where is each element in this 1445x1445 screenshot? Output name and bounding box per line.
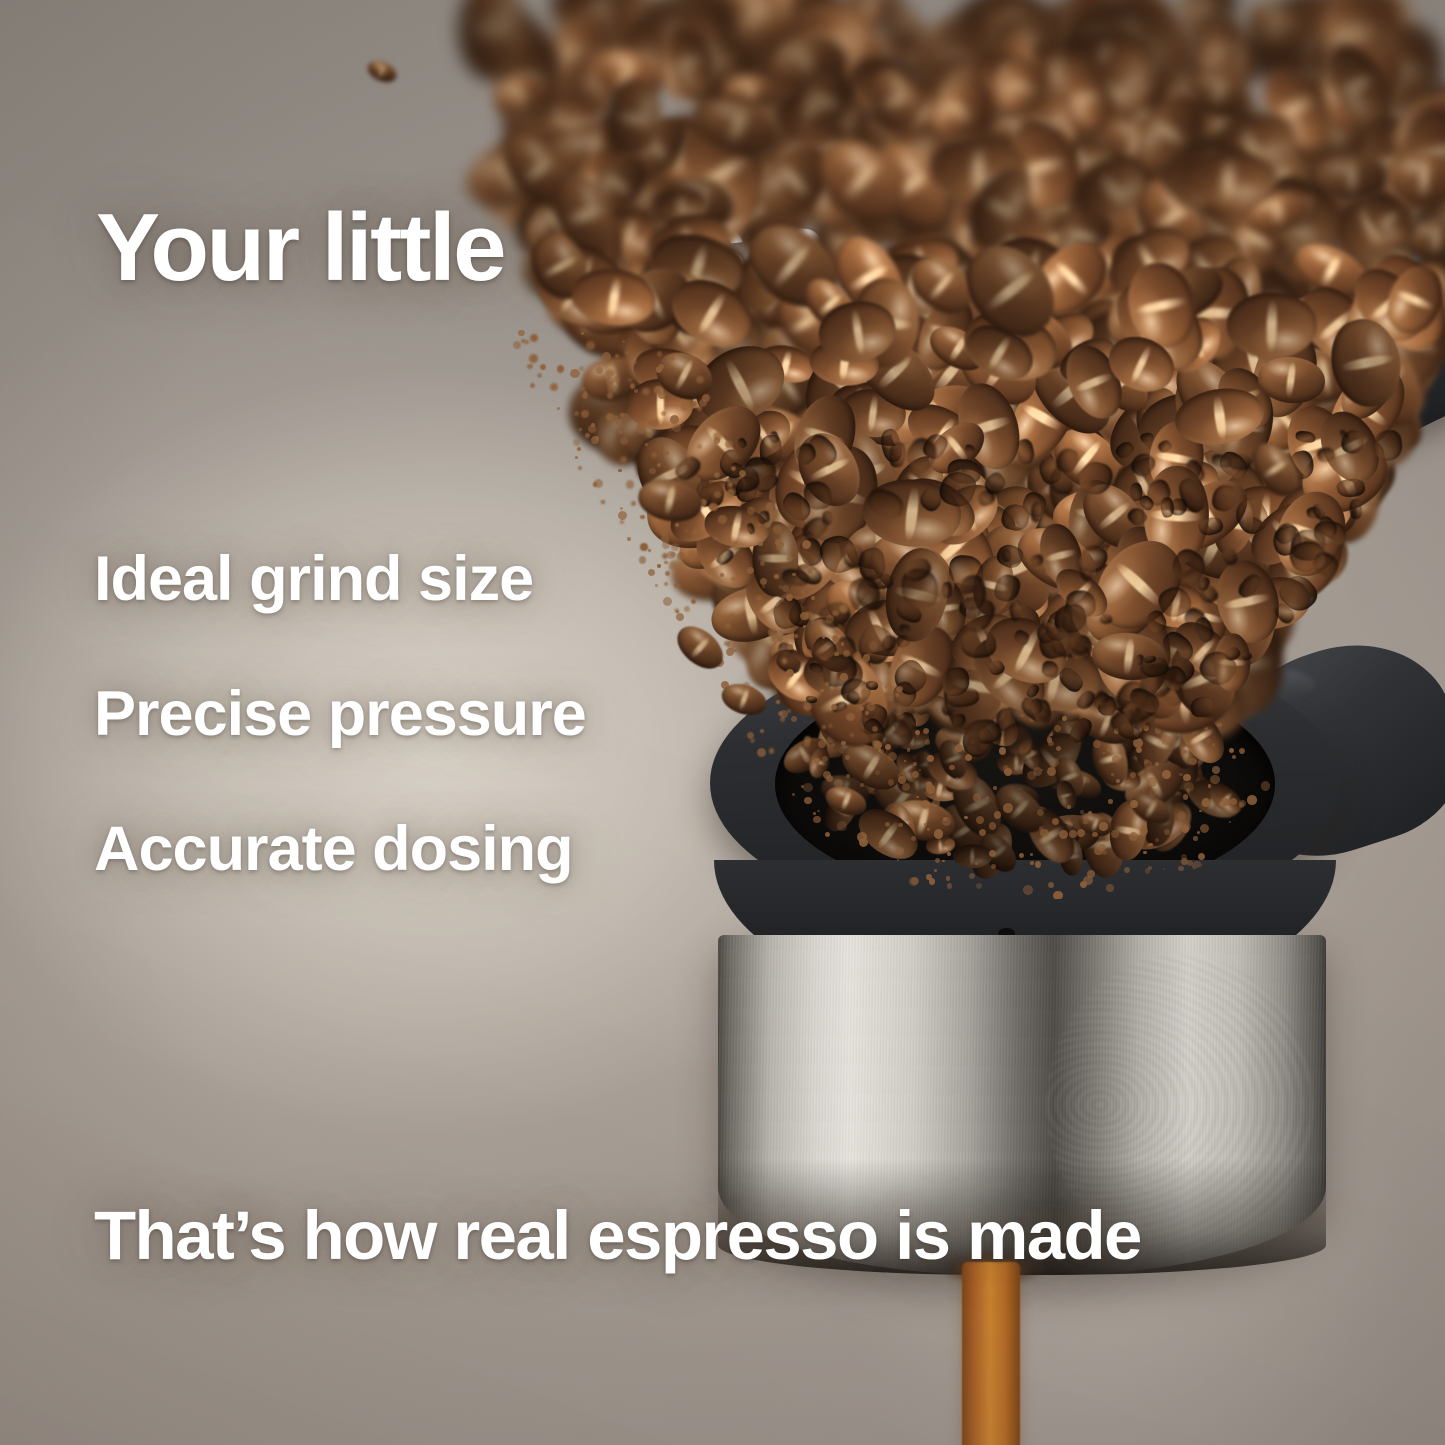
coffee-grain [803, 702, 811, 710]
coffee-grain [926, 874, 931, 879]
coffee-grain [687, 550, 696, 559]
coffee-grain [872, 726, 878, 732]
coffee-grain [993, 786, 997, 790]
coffee-grain [989, 850, 996, 857]
coffee-grain [610, 381, 613, 384]
coffee-grain [1217, 723, 1221, 727]
coffee-grain [530, 383, 535, 388]
coffee-grain [879, 842, 882, 845]
coffee-grain [1192, 861, 1202, 871]
coffee-grain [1124, 867, 1130, 873]
coffee-grain [1181, 854, 1187, 860]
coffee-grain [671, 543, 678, 550]
coffee-grain [729, 613, 735, 619]
coffee-grain [1140, 827, 1148, 835]
coffee-grain [676, 613, 684, 621]
coffee-grain [1020, 714, 1023, 717]
coffee-grain [886, 693, 894, 701]
coffee-grain [1179, 773, 1182, 776]
coffee-grain [591, 423, 595, 427]
coffee-grain [834, 652, 838, 656]
coffee-grain [786, 669, 794, 677]
coffee-grain [1054, 725, 1061, 732]
coffee-grain [675, 523, 679, 527]
coffee-grain [725, 623, 731, 629]
coffee-grain [776, 700, 780, 704]
coffee-grain [801, 785, 804, 788]
coffee-grain [986, 796, 989, 799]
coffee-grain [834, 628, 839, 633]
coffee-grain [911, 877, 919, 885]
coffee-grain [846, 774, 849, 777]
coffee-grain [1030, 861, 1034, 865]
coffee-grain [1083, 816, 1087, 820]
coffee-grain [1197, 831, 1200, 834]
coffee-grain [601, 500, 605, 504]
coffee-grain [1247, 795, 1256, 804]
coffee-grain [657, 351, 663, 357]
coffee-grain [713, 432, 722, 441]
coffee-grain [756, 595, 762, 601]
coffee-grain [1004, 768, 1012, 776]
coffee-grain [813, 812, 816, 815]
coffee-grain [1164, 829, 1170, 835]
coffee-grain [766, 502, 774, 510]
coffee-grain [811, 596, 815, 600]
coffee-grain [527, 364, 533, 370]
coffee-grain [1229, 821, 1231, 823]
coffee-grain [1033, 767, 1042, 776]
coffee-grain [818, 619, 823, 624]
coffee-grain [1178, 866, 1184, 872]
coffee-grain [618, 469, 621, 472]
coffee-grain [1232, 755, 1236, 759]
coffee-grain [1040, 829, 1049, 838]
coffee-grain [791, 716, 797, 722]
feature-list: Ideal grind size Precise pressure Accura… [94, 548, 586, 881]
coffee-grain [947, 883, 953, 889]
coffee-grain [529, 354, 538, 363]
coffee-grain [916, 796, 918, 798]
coffee-grain [620, 437, 628, 445]
coffee-grain [655, 584, 658, 587]
marketing-image: Your little barista Ideal grind size Pre… [0, 0, 1445, 1445]
coffee-grain [658, 391, 666, 399]
coffee-grain [537, 373, 542, 378]
coffee-grain [885, 744, 891, 750]
coffee-grain [769, 748, 774, 753]
coffee-grain [832, 635, 840, 643]
coffee-grain [855, 655, 861, 661]
coffee-grain [904, 760, 906, 762]
coffee-grain [656, 366, 663, 373]
coffee-grain [758, 542, 763, 547]
coffee-grain [530, 334, 538, 342]
coffee-grain [1212, 743, 1216, 747]
coffee-grain [633, 360, 637, 364]
coffee-grain [648, 549, 651, 552]
coffee-grain [919, 769, 921, 771]
coffee-grain [1023, 885, 1033, 895]
coffee-grain [859, 706, 864, 711]
coffee-grain [838, 624, 841, 627]
coffee-grain [949, 765, 954, 770]
coffee-grain [975, 862, 978, 865]
coffee-bean [953, 844, 992, 868]
feature-item-grind-size: Ideal grind size [94, 548, 586, 611]
coffee-grain [1087, 870, 1095, 878]
coffee-grain [724, 641, 730, 647]
coffee-grain [578, 466, 582, 470]
coffee-grain [1201, 800, 1208, 807]
coffee-grain [1149, 788, 1157, 796]
coffee-grain [925, 739, 930, 744]
coffee-grain [839, 604, 848, 613]
coffee-grain [613, 376, 619, 382]
coffee-grain [731, 466, 736, 471]
coffee-grain [1145, 868, 1151, 874]
coffee-grain [757, 748, 766, 757]
coffee-grain [1093, 740, 1101, 748]
coffee-grain [1130, 800, 1137, 807]
coffee-grain [637, 425, 645, 433]
coffee-grain [897, 859, 899, 861]
coffee-grain [725, 440, 733, 448]
coffee-grain [1184, 782, 1194, 792]
coffee-grain [860, 783, 864, 787]
coffee-grain [768, 628, 776, 636]
coffee-grain [843, 650, 850, 657]
coffee-grain [1062, 716, 1067, 721]
coffee-grain [697, 444, 702, 449]
coffee-grain [720, 573, 724, 577]
coffee-grain [1048, 741, 1053, 746]
coffee-grain [1143, 851, 1146, 854]
coffee-grain [802, 540, 811, 549]
coffee-grain [573, 439, 580, 446]
coffee-grain [1177, 811, 1186, 820]
coffee-grain [669, 561, 678, 570]
coffee-grain [696, 376, 703, 383]
coffee-grain [630, 383, 636, 389]
coffee-grain [691, 599, 696, 604]
coffee-grain [1161, 735, 1171, 745]
coffee-grain [867, 703, 874, 710]
coffee-grain [792, 573, 796, 577]
coffee-grain [945, 839, 955, 849]
coffee-grain [681, 402, 689, 410]
coffee-grain [1108, 799, 1112, 803]
coffee-grain [863, 654, 870, 661]
coffee-grain [570, 369, 579, 378]
coffee-grain [713, 537, 717, 541]
coffee-grain [902, 783, 910, 791]
coffee-grain [1155, 838, 1159, 842]
coffee-grain [731, 577, 735, 581]
coffee-grain [934, 869, 937, 872]
coffee-grain [955, 744, 963, 752]
coffee-grain [927, 755, 934, 762]
coffee-grain [1189, 758, 1197, 766]
coffee-grain [775, 539, 782, 546]
coffee-grain [581, 332, 584, 335]
coffee-grain [1047, 767, 1056, 776]
coffee-grain [885, 822, 890, 827]
coffee-grain [760, 729, 764, 733]
coffee-grain [964, 816, 967, 819]
coffee-grain [714, 491, 721, 498]
coffee-grain [973, 793, 981, 801]
coffee-grain [887, 668, 892, 673]
coffee-grain [774, 574, 779, 579]
coffee-grain [803, 783, 813, 793]
coffee-grain [913, 762, 916, 765]
coffee-grain [662, 541, 670, 549]
coffee-grain [879, 845, 882, 848]
coffee-grain [804, 736, 810, 742]
coffee-grain [802, 753, 811, 762]
coffee-grain [782, 658, 788, 664]
coffee-grain [781, 598, 784, 601]
coffee-grain [935, 702, 938, 705]
coffee-grain [1030, 853, 1033, 856]
coffee-grain [1162, 770, 1170, 778]
coffee-grain [661, 411, 666, 416]
coffee-grind-chunk [1030, 501, 1044, 522]
coffee-grind-chunk [898, 623, 911, 634]
coffee-grain [1003, 803, 1013, 813]
coffee-grain [640, 543, 647, 550]
coffee-grain [1099, 822, 1108, 831]
coffee-grain [622, 340, 625, 343]
coffee-grain [620, 507, 623, 510]
coffee-grain [518, 330, 524, 336]
coffee-grain [728, 482, 733, 487]
coffee-grain [1067, 821, 1072, 826]
coffee-grain [857, 832, 867, 842]
coffee-grain [631, 501, 636, 506]
coffee-grain [1208, 784, 1211, 787]
coffee-grain [1155, 762, 1159, 766]
coffee-grain [718, 515, 727, 524]
coffee-grain [979, 829, 986, 836]
coffee-grain [1069, 830, 1077, 838]
coffee-grain [820, 689, 823, 692]
tagline: That’s how real espresso is made [94, 1196, 1141, 1275]
feature-item-pressure: Precise pressure [94, 683, 586, 746]
coffee-grain [943, 817, 947, 821]
coffee-grain [615, 354, 619, 358]
coffee-grain [837, 821, 847, 831]
coffee-grain [1088, 811, 1092, 815]
coffee-bean [1227, 292, 1317, 358]
coffee-grain [782, 585, 789, 592]
coffee-grain [1035, 861, 1042, 868]
coffee-grain [786, 594, 793, 601]
feature-item-dosing: Accurate dosing [94, 818, 586, 881]
coffee-grain [619, 430, 622, 433]
coffee-grain [620, 413, 624, 417]
coffee-grain [976, 883, 982, 889]
coffee-grain [921, 800, 930, 809]
coffee-grain [999, 747, 1006, 754]
coffee-grain [1163, 868, 1165, 870]
coffee-grain [840, 673, 847, 680]
coffee-grain [1084, 777, 1089, 782]
coffee-grain [794, 634, 798, 638]
coffee-grain [1067, 805, 1071, 809]
coffee-grain [770, 510, 778, 518]
coffee-grain [846, 713, 854, 721]
coffee-grain [888, 752, 897, 761]
coffee-grain [814, 758, 820, 764]
coffee-grain [764, 522, 770, 528]
coffee-grain [1049, 758, 1059, 768]
coffee-grain [805, 611, 813, 619]
coffee-grain [773, 525, 782, 534]
coffee-grain [669, 355, 675, 361]
coffee-grain [612, 415, 615, 418]
coffee-grain [758, 523, 761, 526]
coffee-grain [595, 436, 599, 440]
coffee-grain [1106, 884, 1114, 892]
coffee-grain [1147, 777, 1157, 787]
coffee-grain [714, 472, 720, 478]
coffee-grain [888, 779, 895, 786]
coffee-grain [513, 341, 521, 349]
coffee-grain [1193, 836, 1198, 841]
coffee-grain [802, 564, 807, 569]
coffee-grain [869, 641, 878, 650]
coffee-grain [1144, 760, 1152, 768]
coffee-grain [1199, 810, 1201, 812]
coffee-grain [557, 365, 564, 372]
coffee-grain [1212, 766, 1220, 774]
coffee-grain [664, 451, 669, 456]
coffee-grain [670, 415, 679, 424]
coffee-grain [586, 341, 595, 350]
coffee-grain [1053, 891, 1063, 900]
coffee-grain [1112, 755, 1120, 763]
coffee-grain [911, 836, 916, 841]
coffee-grain [1083, 820, 1088, 825]
coffee-grain [692, 530, 698, 536]
coffee-grain [1210, 775, 1220, 785]
coffee-grain [618, 511, 627, 520]
coffee-grain [813, 816, 821, 824]
coffee-grain [1126, 780, 1130, 784]
coffee-grain [991, 864, 996, 869]
coffee-grain [1111, 830, 1119, 838]
coffee-grain [639, 556, 646, 563]
coffee-grain [579, 366, 584, 371]
coffee-grain [672, 424, 680, 432]
coffee-grain [760, 578, 767, 585]
coffee-grain [925, 781, 932, 788]
coffee-grain [865, 711, 869, 715]
coffee-grain [976, 816, 984, 824]
coffee-grain [942, 860, 945, 863]
coffee-grain [989, 822, 997, 830]
coffee-grain [602, 352, 611, 361]
coffee-grain [1182, 750, 1186, 754]
coffee-grain [994, 811, 1001, 818]
coffee-grain [804, 797, 811, 804]
coffee-grain [807, 568, 812, 573]
coffee-grain [916, 734, 919, 737]
